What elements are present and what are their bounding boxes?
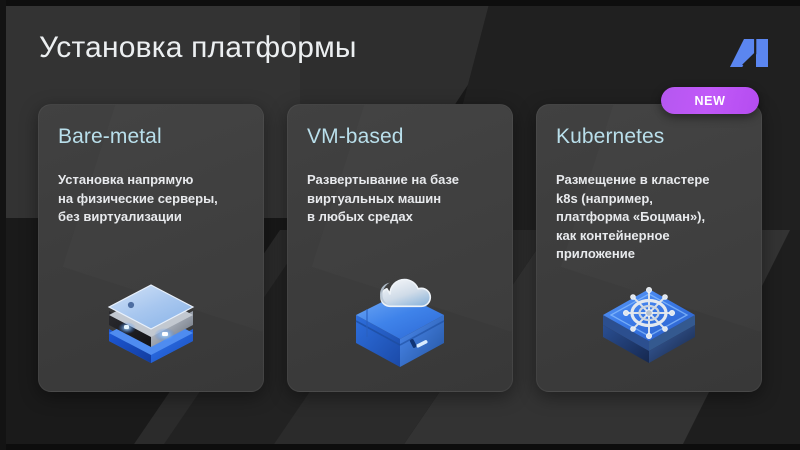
helm-wheel-icon <box>589 263 709 375</box>
card-body-text: Установка напрямую на физические серверы… <box>58 171 253 227</box>
card-vm-based[interactable]: VM-based Развертывание на базе виртуальн… <box>287 104 513 392</box>
cards-row: Bare-metal Установка напрямую на физичес… <box>38 104 762 392</box>
background-left-edge <box>0 0 6 450</box>
cloud-box-icon <box>340 263 460 375</box>
card-heading: Bare-metal <box>58 124 162 150</box>
background-bottom-edge <box>0 444 800 450</box>
page-title: Установка платформы <box>39 29 357 67</box>
status-badge-new: NEW <box>661 87 759 114</box>
brand-logo-icon <box>728 36 772 76</box>
card-body-text: Развертывание на базе виртуальных машин … <box>307 171 502 227</box>
presentation-slide: Установка платформы Bare-metal Установка… <box>0 0 800 450</box>
server-stack-icon <box>91 263 211 375</box>
card-kubernetes[interactable]: NEW Kubernetes Размещение в кластере k8s… <box>536 104 762 392</box>
background-top-edge <box>0 0 800 6</box>
card-heading: VM-based <box>307 124 404 150</box>
card-heading: Kubernetes <box>556 124 664 150</box>
card-body-text: Размещение в кластере k8s (например, пла… <box>556 171 751 264</box>
card-bare-metal[interactable]: Bare-metal Установка напрямую на физичес… <box>38 104 264 392</box>
